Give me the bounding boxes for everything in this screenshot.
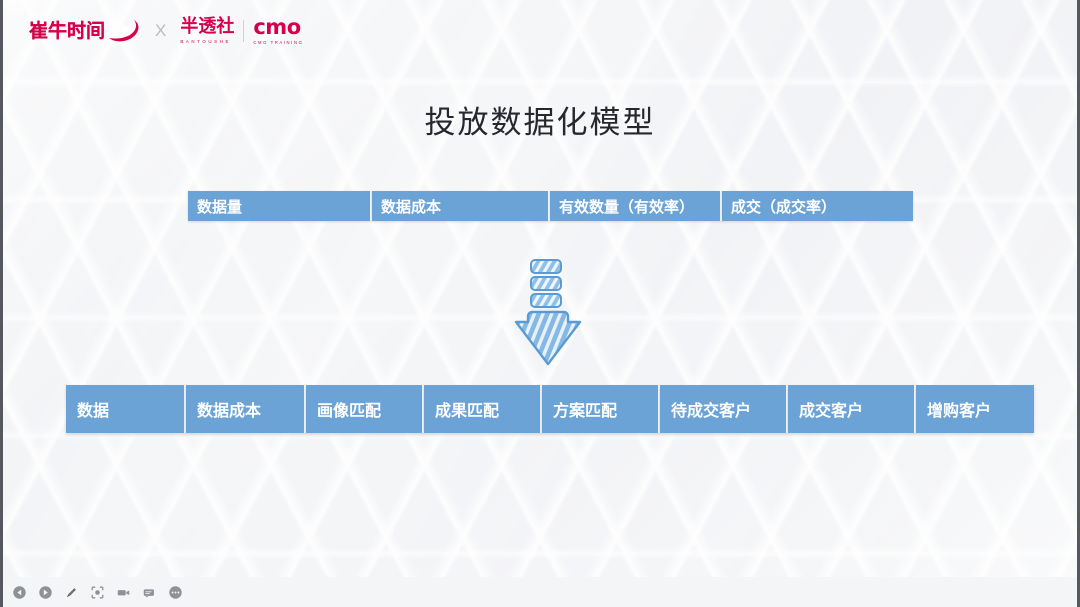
down-arrow-icon [510, 258, 586, 368]
bottom-box-label: 成交客户 [799, 397, 863, 421]
bottom-box-5: 待成交客户 [660, 385, 788, 433]
top-box-label: 有效数量（有效率） [559, 196, 694, 217]
top-box-1: 数据成本 [372, 191, 550, 221]
logo-cuiniu-time: 崔牛时间 [29, 18, 141, 44]
ellipsis-icon[interactable] [169, 586, 182, 599]
bottom-box-1: 数据成本 [186, 385, 306, 433]
page-title: 投放数据化模型 [3, 97, 1077, 142]
bottom-box-0: 数据 [66, 385, 186, 433]
play-icon[interactable] [39, 586, 52, 599]
top-box-label: 成交（成交率） [731, 196, 836, 217]
video-icon[interactable] [117, 586, 130, 599]
top-box-0: 数据量 [188, 191, 372, 221]
logo-cmo-label: cmo [253, 17, 300, 38]
logo-cmo-subtext: CMO TRAINING [253, 40, 303, 45]
logo-separator-x: X [155, 21, 166, 41]
bottom-box-label: 画像匹配 [317, 397, 381, 421]
top-box-3: 成交（成交率） [722, 191, 913, 221]
swoosh-icon [107, 18, 141, 44]
bottom-box-label: 数据成本 [197, 397, 261, 421]
top-metrics-row: 数据量数据成本有效数量（有效率）成交（成交率） [188, 191, 913, 221]
logo-bantoushe-label: 半透社 [180, 18, 234, 37]
bottom-box-label: 数据 [77, 397, 109, 421]
comment-icon[interactable] [143, 586, 156, 599]
bottom-box-7: 增购客户 [916, 385, 1034, 433]
logo-cuiniu-label: 崔牛时间 [29, 22, 105, 41]
bottom-box-label: 成果匹配 [435, 397, 499, 421]
top-box-label: 数据量 [197, 196, 242, 217]
logo-bantoushe-cmo: 半透社 BANTOUSHE cmo CMO TRAINING [180, 17, 303, 45]
pointer-icon[interactable] [91, 586, 104, 599]
bottom-box-label: 增购客户 [927, 397, 991, 421]
top-box-2: 有效数量（有效率） [550, 191, 722, 221]
top-box-label: 数据成本 [381, 196, 441, 217]
logo-bantoushe-subtext: BANTOUSHE [180, 39, 231, 44]
bottom-box-label: 待成交客户 [671, 397, 751, 421]
player-toolbar [3, 577, 1080, 607]
logo-divider [243, 20, 244, 42]
logo-bantoushe: 半透社 BANTOUSHE [180, 18, 234, 44]
bottom-stages-row: 数据数据成本画像匹配成果匹配方案匹配待成交客户成交客户增购客户 [66, 385, 1034, 433]
logo-cmo: cmo CMO TRAINING [253, 17, 303, 45]
header-logo-bar: 崔牛时间 X 半透社 BANTOUSHE cmo CMO TRAINING [29, 17, 303, 45]
bottom-box-3: 成果匹配 [424, 385, 542, 433]
bottom-box-4: 方案匹配 [542, 385, 660, 433]
pencil-icon[interactable] [65, 586, 78, 599]
bottom-box-label: 方案匹配 [553, 397, 617, 421]
presentation-slide: 崔牛时间 X 半透社 BANTOUSHE cmo CMO TRAINING 投放… [0, 0, 1080, 607]
bottom-box-6: 成交客户 [788, 385, 916, 433]
prev-icon[interactable] [13, 586, 26, 599]
bottom-box-2: 画像匹配 [306, 385, 424, 433]
